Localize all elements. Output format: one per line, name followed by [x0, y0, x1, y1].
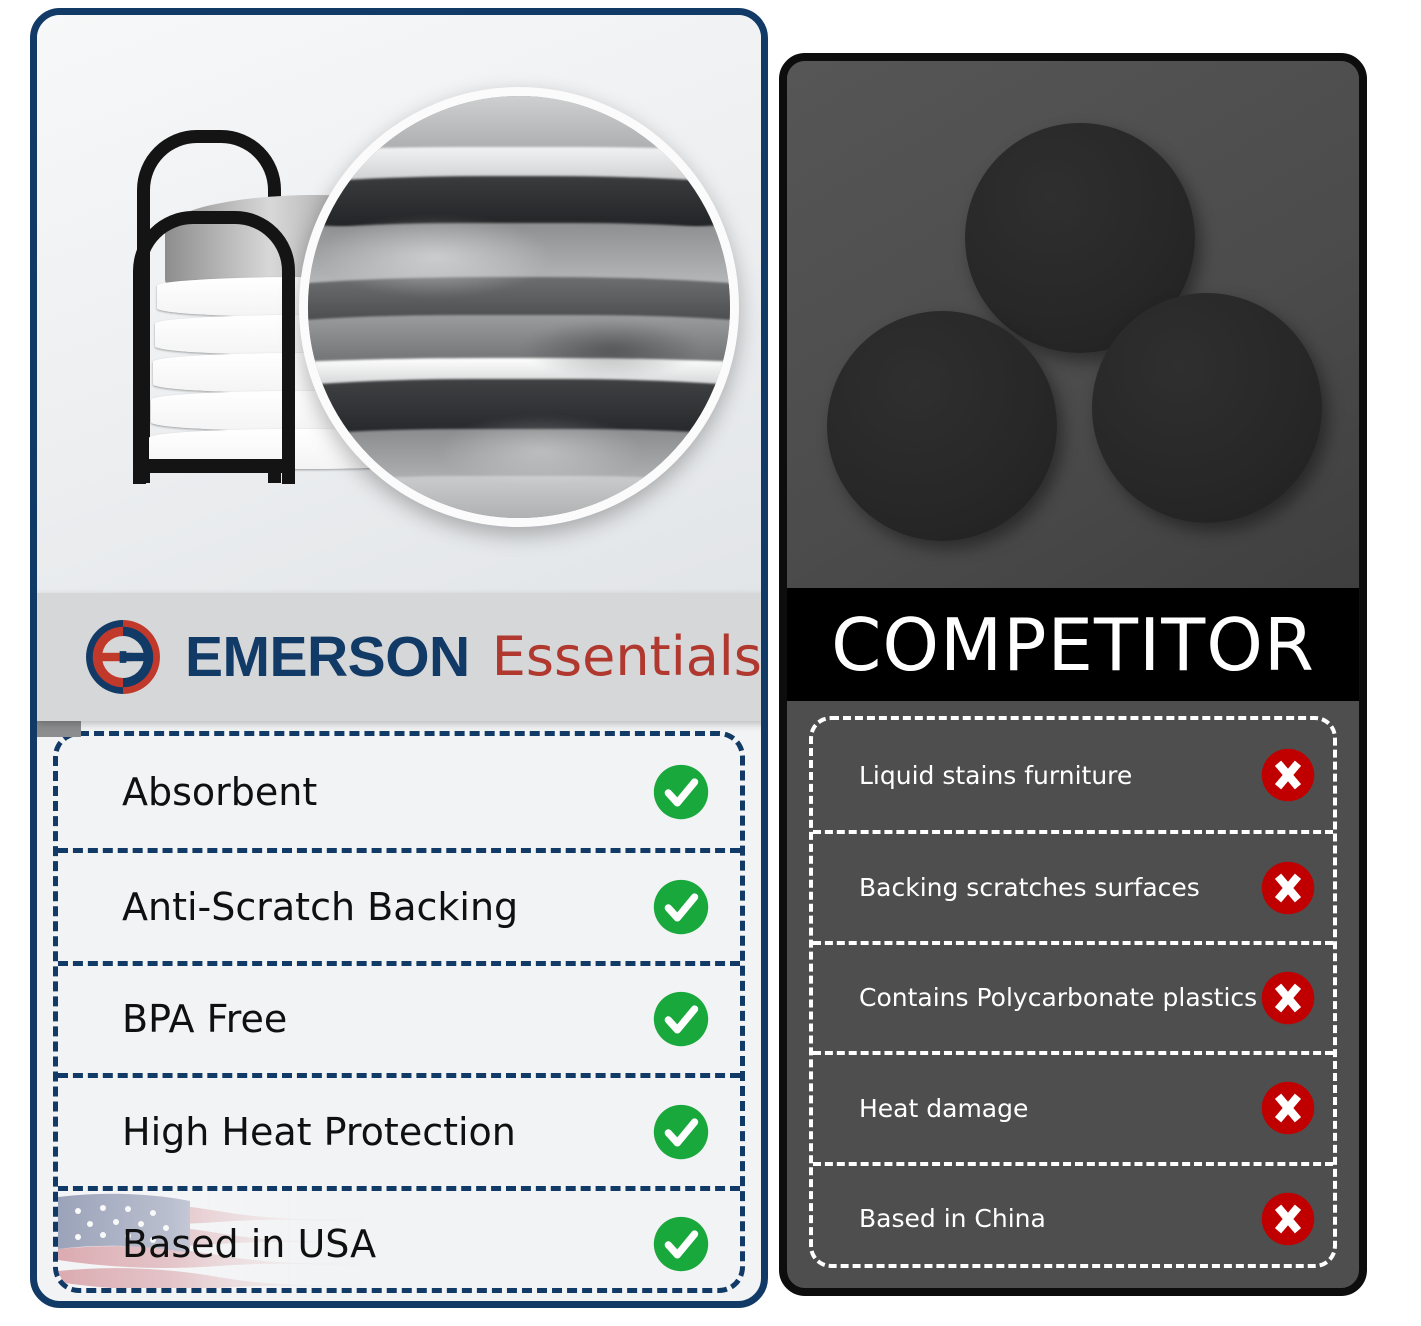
- feature-label: BPA Free: [122, 997, 652, 1041]
- drawback-label: Contains Polycarbonate plastics: [859, 983, 1259, 1012]
- brand-panel: EMERSON Essentials Absorbent Anti-Scratc…: [30, 8, 768, 1308]
- emerson-circle-e-logo-icon: [81, 615, 165, 699]
- competitor-product-photo: [787, 61, 1359, 588]
- drawback-row: Based in China: [813, 1162, 1333, 1268]
- brand-name-primary: EMERSON: [185, 629, 470, 686]
- red-x-icon: [1259, 859, 1317, 917]
- competitor-coaster: [1092, 293, 1322, 523]
- feature-label: Absorbent: [122, 770, 652, 814]
- green-check-icon: [652, 1215, 710, 1273]
- drawback-label: Backing scratches surfaces: [859, 873, 1259, 902]
- drawback-label: Based in China: [859, 1204, 1259, 1233]
- competitor-title: COMPETITOR: [831, 609, 1315, 681]
- drawback-row: Backing scratches surfaces: [813, 830, 1333, 940]
- green-check-icon: [652, 1103, 710, 1161]
- drawback-label: Liquid stains furniture: [859, 761, 1259, 790]
- red-x-icon: [1259, 1079, 1317, 1137]
- holder-base: [133, 459, 293, 473]
- competitor-panel: COMPETITOR Liquid stains furniture Backi…: [779, 53, 1367, 1296]
- brand-name-secondary: Essentials: [492, 630, 762, 684]
- feature-row: Absorbent: [58, 736, 740, 848]
- brand-feature-list: Absorbent Anti-Scratch Backing BPA Free: [53, 731, 745, 1293]
- drawback-label: Heat damage: [859, 1094, 1259, 1123]
- drawback-row: Contains Polycarbonate plastics: [813, 941, 1333, 1051]
- green-check-icon: [652, 990, 710, 1048]
- competitor-coaster: [827, 311, 1057, 541]
- brand-banner: EMERSON Essentials: [37, 593, 768, 721]
- marble-coaster-closeup: [299, 87, 739, 527]
- feature-label: High Heat Protection: [122, 1110, 652, 1154]
- competitor-banner: COMPETITOR: [787, 588, 1359, 701]
- green-check-icon: [652, 763, 710, 821]
- red-x-icon: [1259, 969, 1317, 1027]
- feature-label: Based in USA: [122, 1222, 652, 1266]
- feature-row: BPA Free: [58, 961, 740, 1073]
- feature-row: High Heat Protection: [58, 1073, 740, 1185]
- drawback-row: Heat damage: [813, 1051, 1333, 1161]
- competitor-drawback-list: Liquid stains furniture Backing scratche…: [809, 716, 1337, 1268]
- brand-product-photo: [37, 15, 761, 595]
- red-x-icon: [1259, 1190, 1317, 1248]
- banner-shadow-notch: [37, 721, 81, 737]
- red-x-icon: [1259, 746, 1317, 804]
- comparison-infographic: EMERSON Essentials Absorbent Anti-Scratc…: [0, 0, 1421, 1326]
- holder-wire-front: [133, 211, 295, 484]
- feature-row: Anti-Scratch Backing: [58, 848, 740, 960]
- feature-row: Based in USA: [58, 1186, 740, 1293]
- feature-label: Anti-Scratch Backing: [122, 885, 652, 929]
- drawback-row: Liquid stains furniture: [813, 720, 1333, 830]
- green-check-icon: [652, 878, 710, 936]
